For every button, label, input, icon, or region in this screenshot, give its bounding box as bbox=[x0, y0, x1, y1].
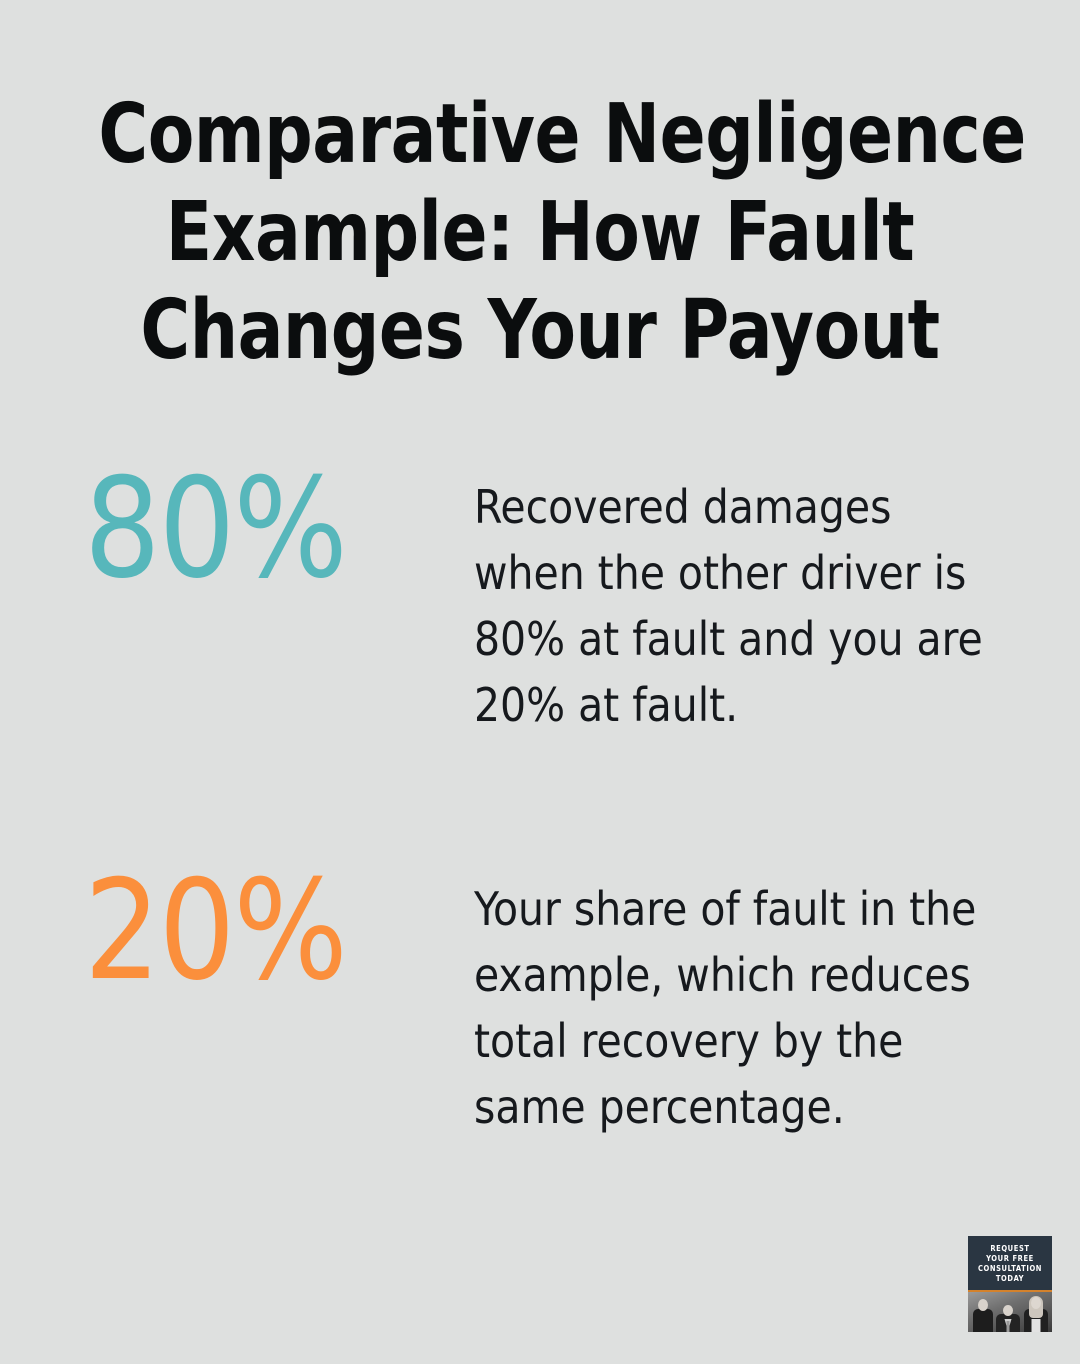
cta-line-3: Consultation bbox=[972, 1264, 1048, 1274]
figure-head bbox=[978, 1299, 988, 1311]
title-line-1: Comparative Negligence bbox=[98, 86, 981, 184]
stats-list: 80% Recovered damages when the other dri… bbox=[0, 462, 1080, 1140]
infographic-poster: Comparative Negligence Example: How Faul… bbox=[0, 0, 1080, 1364]
stat-row: 80% Recovered damages when the other dri… bbox=[0, 462, 1080, 738]
stat-description-80: Recovered damages when the other driver … bbox=[474, 462, 995, 738]
figure-head bbox=[1031, 1297, 1041, 1309]
stat-description-20: Your share of fault in the example, whic… bbox=[474, 864, 995, 1140]
person-figure-center bbox=[995, 1305, 1021, 1332]
request-consultation-badge[interactable]: Request Your Free Consultation Today bbox=[968, 1236, 1052, 1332]
title-line-2: Example: How Fault bbox=[98, 184, 981, 282]
cta-line-4: Today bbox=[972, 1274, 1048, 1284]
stat-value-80: 80% bbox=[84, 462, 462, 596]
figure-tie bbox=[1007, 1321, 1010, 1332]
stat-row: 20% Your share of fault in the example, … bbox=[0, 864, 1080, 1140]
person-figure-right bbox=[1023, 1297, 1049, 1332]
figure-body bbox=[973, 1309, 993, 1332]
page-title: Comparative Negligence Example: How Faul… bbox=[60, 86, 1020, 380]
figure-blouse bbox=[1032, 1319, 1041, 1332]
stat-value-20: 20% bbox=[84, 864, 462, 998]
figure-head bbox=[1003, 1305, 1013, 1316]
team-photo-image bbox=[968, 1292, 1052, 1332]
cta-badge-text: Request Your Free Consultation Today bbox=[968, 1236, 1052, 1290]
cta-line-1: Request bbox=[972, 1244, 1048, 1254]
person-figure-left bbox=[972, 1299, 994, 1332]
title-line-3: Changes Your Payout bbox=[98, 282, 981, 380]
cta-line-2: Your Free bbox=[972, 1254, 1048, 1264]
